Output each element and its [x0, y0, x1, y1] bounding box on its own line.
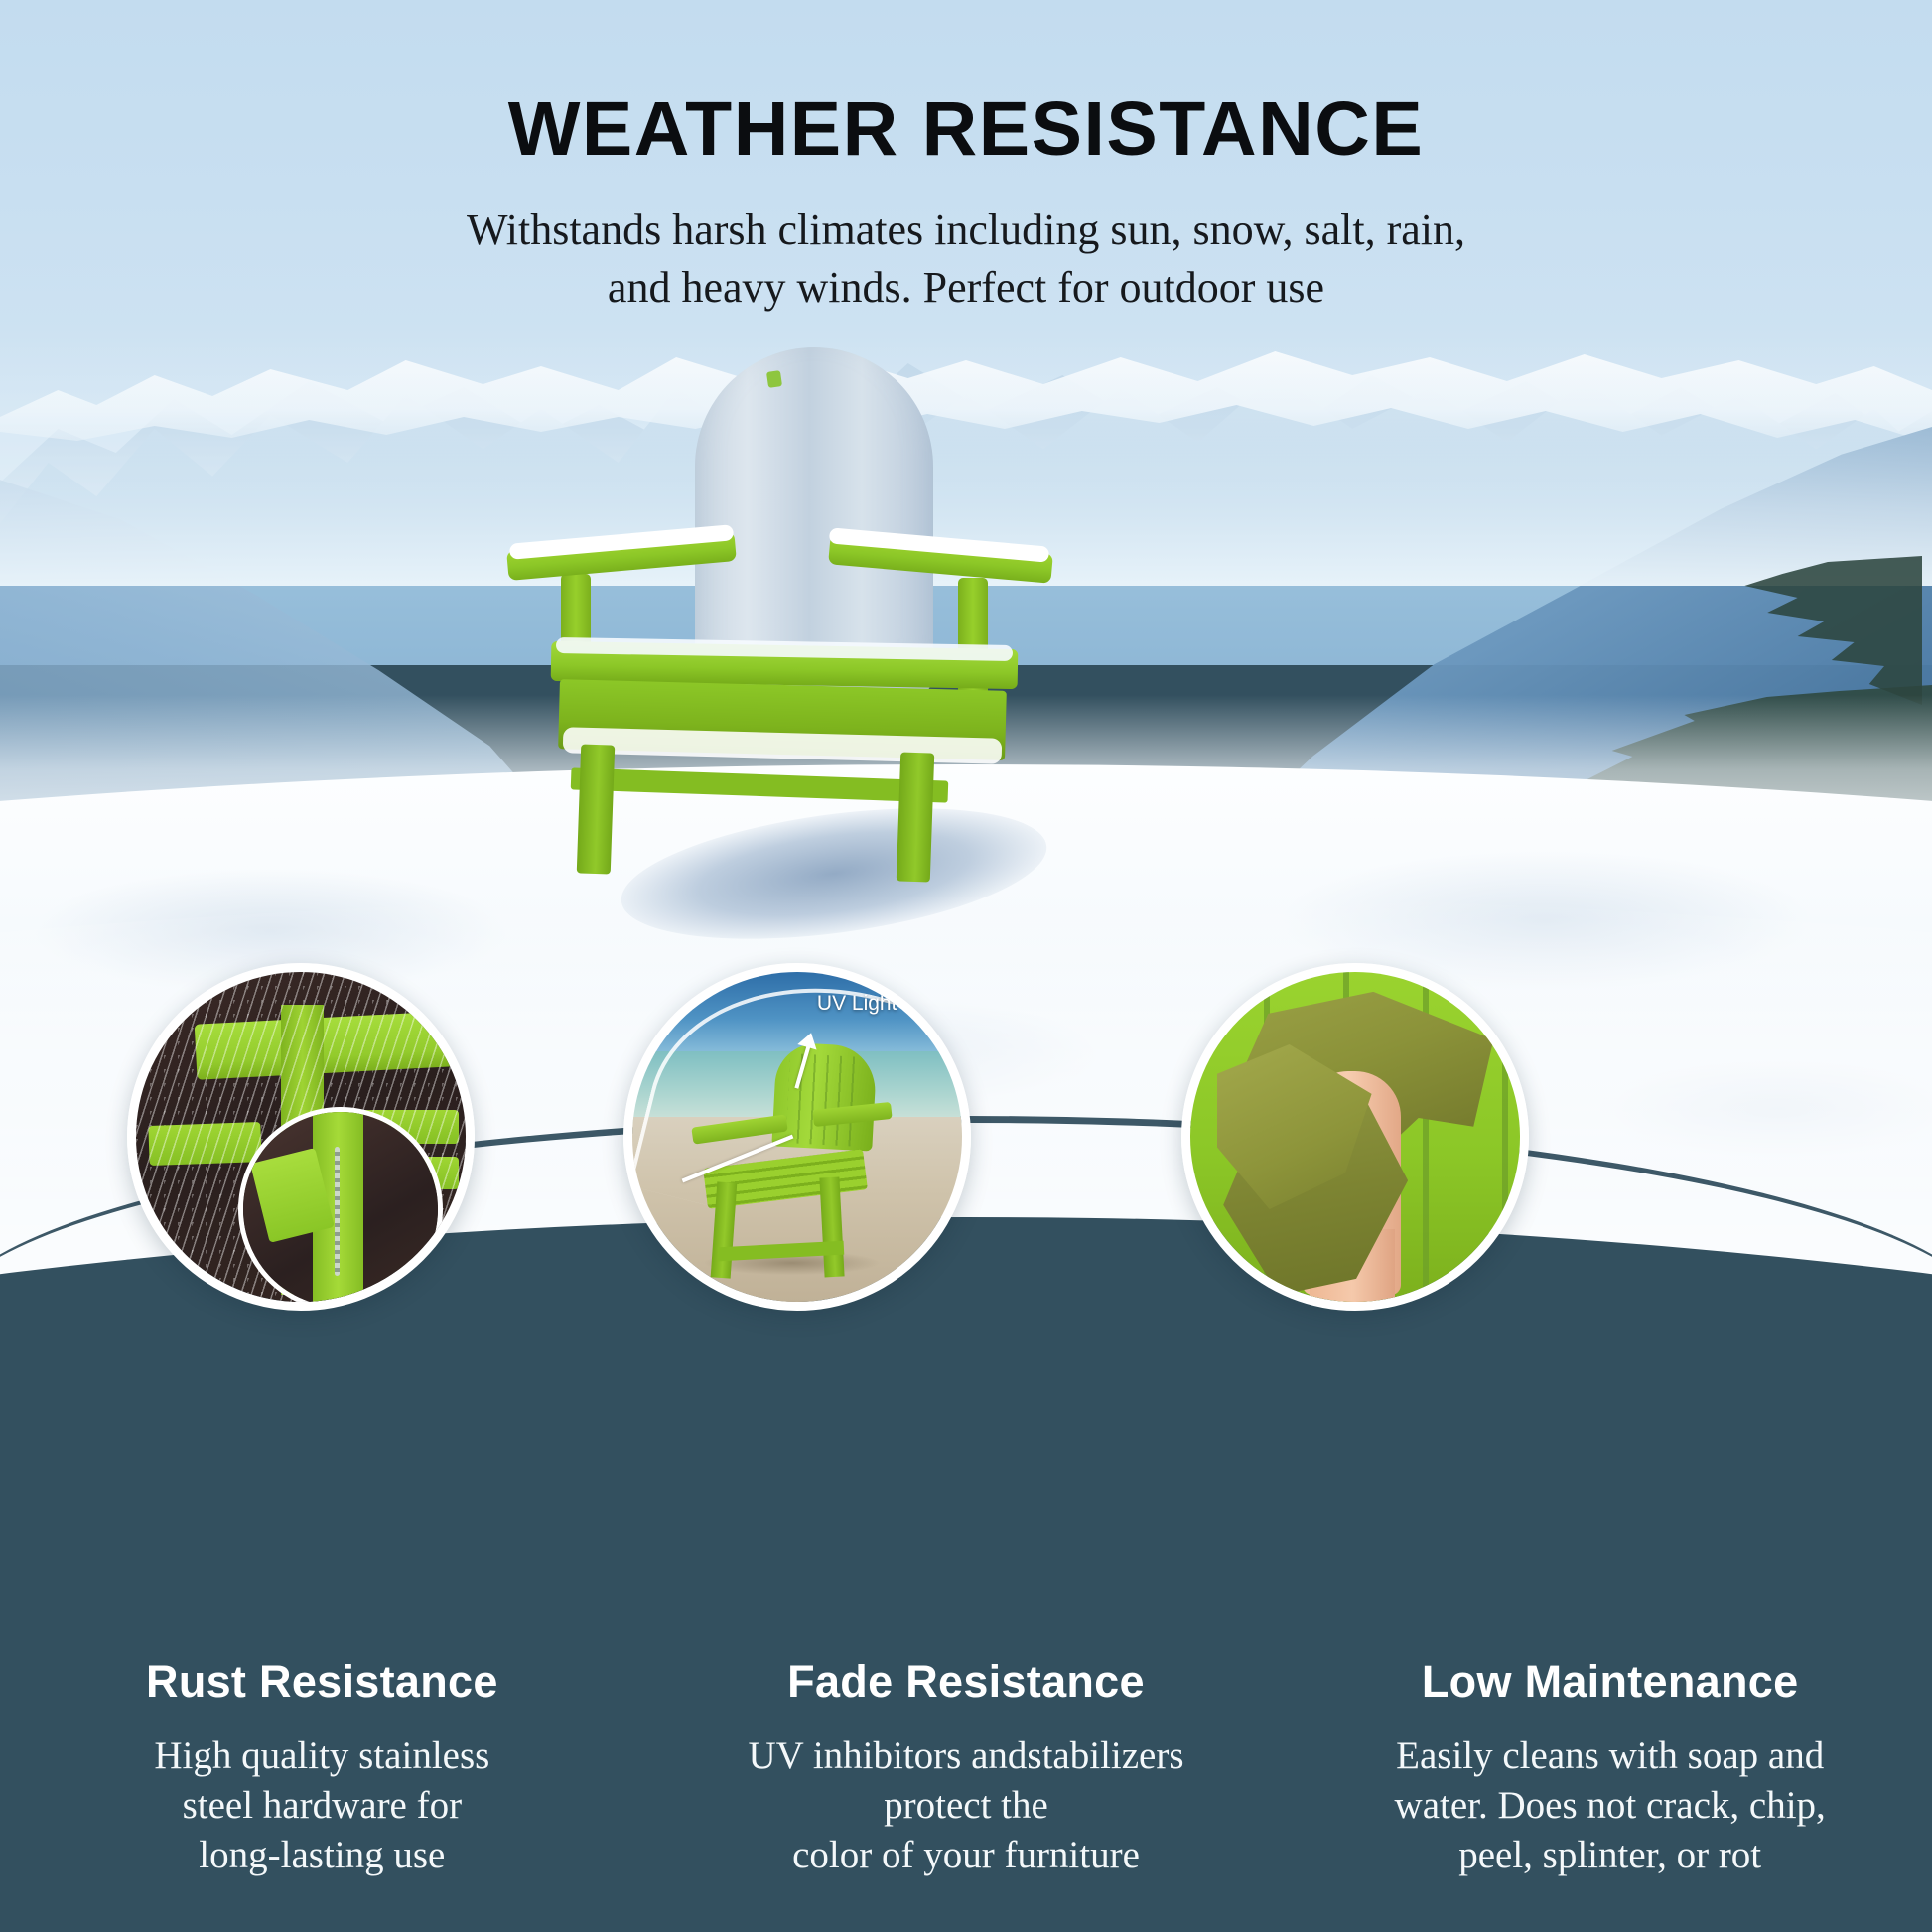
feature-circle-low-maintenance	[1181, 963, 1529, 1311]
feature-desc-line: water. Does not crack, chip,	[1313, 1781, 1906, 1831]
feature-desc-line: Easily cleans with soap and	[1313, 1731, 1906, 1781]
feature-desc-low-maintenance: Easily cleans with soap and water. Does …	[1313, 1731, 1906, 1880]
rust-inset-circle	[238, 1107, 443, 1311]
infographic-root: UV Light WEATHER RESISTANCE Withstands h…	[0, 0, 1932, 1932]
feature-desc-line: long-lasting use	[26, 1831, 619, 1880]
subtitle-line-1: Withstands harsh climates including sun,…	[0, 202, 1932, 259]
feature-desc-line: steel hardware for	[26, 1781, 619, 1831]
chair-backrest-green-edge	[766, 370, 782, 388]
feature-title-rust-resistance: Rust Resistance	[26, 1656, 619, 1708]
feature-desc-rust-resistance: High quality stainless steel hardware fo…	[26, 1731, 619, 1880]
feature-title-fade-resistance: Fade Resistance	[670, 1656, 1263, 1708]
feature-desc-fade-resistance: UV inhibitors andstabilizers protect the…	[670, 1731, 1263, 1880]
feature-circle-rust-resistance	[127, 963, 475, 1311]
uv-light-label: UV Light	[817, 992, 897, 1016]
feature-image-circles: UV Light	[0, 953, 1932, 1370]
page-title: WEATHER RESISTANCE	[0, 91, 1932, 168]
feature-fade-resistance: Fade Resistance UV inhibitors andstabili…	[644, 1656, 1289, 1880]
feature-rust-resistance: Rust Resistance High quality stainless s…	[0, 1656, 644, 1880]
feature-desc-line: UV inhibitors andstabilizers	[670, 1731, 1263, 1781]
feature-low-maintenance: Low Maintenance Easily cleans with soap …	[1288, 1656, 1932, 1880]
subtitle-line-2: and heavy winds. Perfect for outdoor use	[0, 259, 1932, 317]
feature-desc-line: protect the	[670, 1781, 1263, 1831]
feature-desc-line: color of your furniture	[670, 1831, 1263, 1880]
page-subtitle: Withstands harsh climates including sun,…	[0, 202, 1932, 317]
chair-front-leg-right	[897, 752, 935, 882]
feature-circle-fade-resistance: UV Light	[623, 963, 971, 1311]
header-block: WEATHER RESISTANCE Withstands harsh clim…	[0, 0, 1932, 317]
feature-desc-line: peel, splinter, or rot	[1313, 1831, 1906, 1880]
feature-text-row: Rust Resistance High quality stainless s…	[0, 1656, 1932, 1880]
chair-front-leg-left	[577, 744, 616, 874]
feature-title-low-maintenance: Low Maintenance	[1313, 1656, 1906, 1708]
stainless-chain-icon	[335, 1147, 340, 1275]
hero-chair-illustration	[501, 347, 1057, 903]
chair-stretcher	[571, 767, 949, 802]
feature-desc-line: High quality stainless	[26, 1731, 619, 1781]
